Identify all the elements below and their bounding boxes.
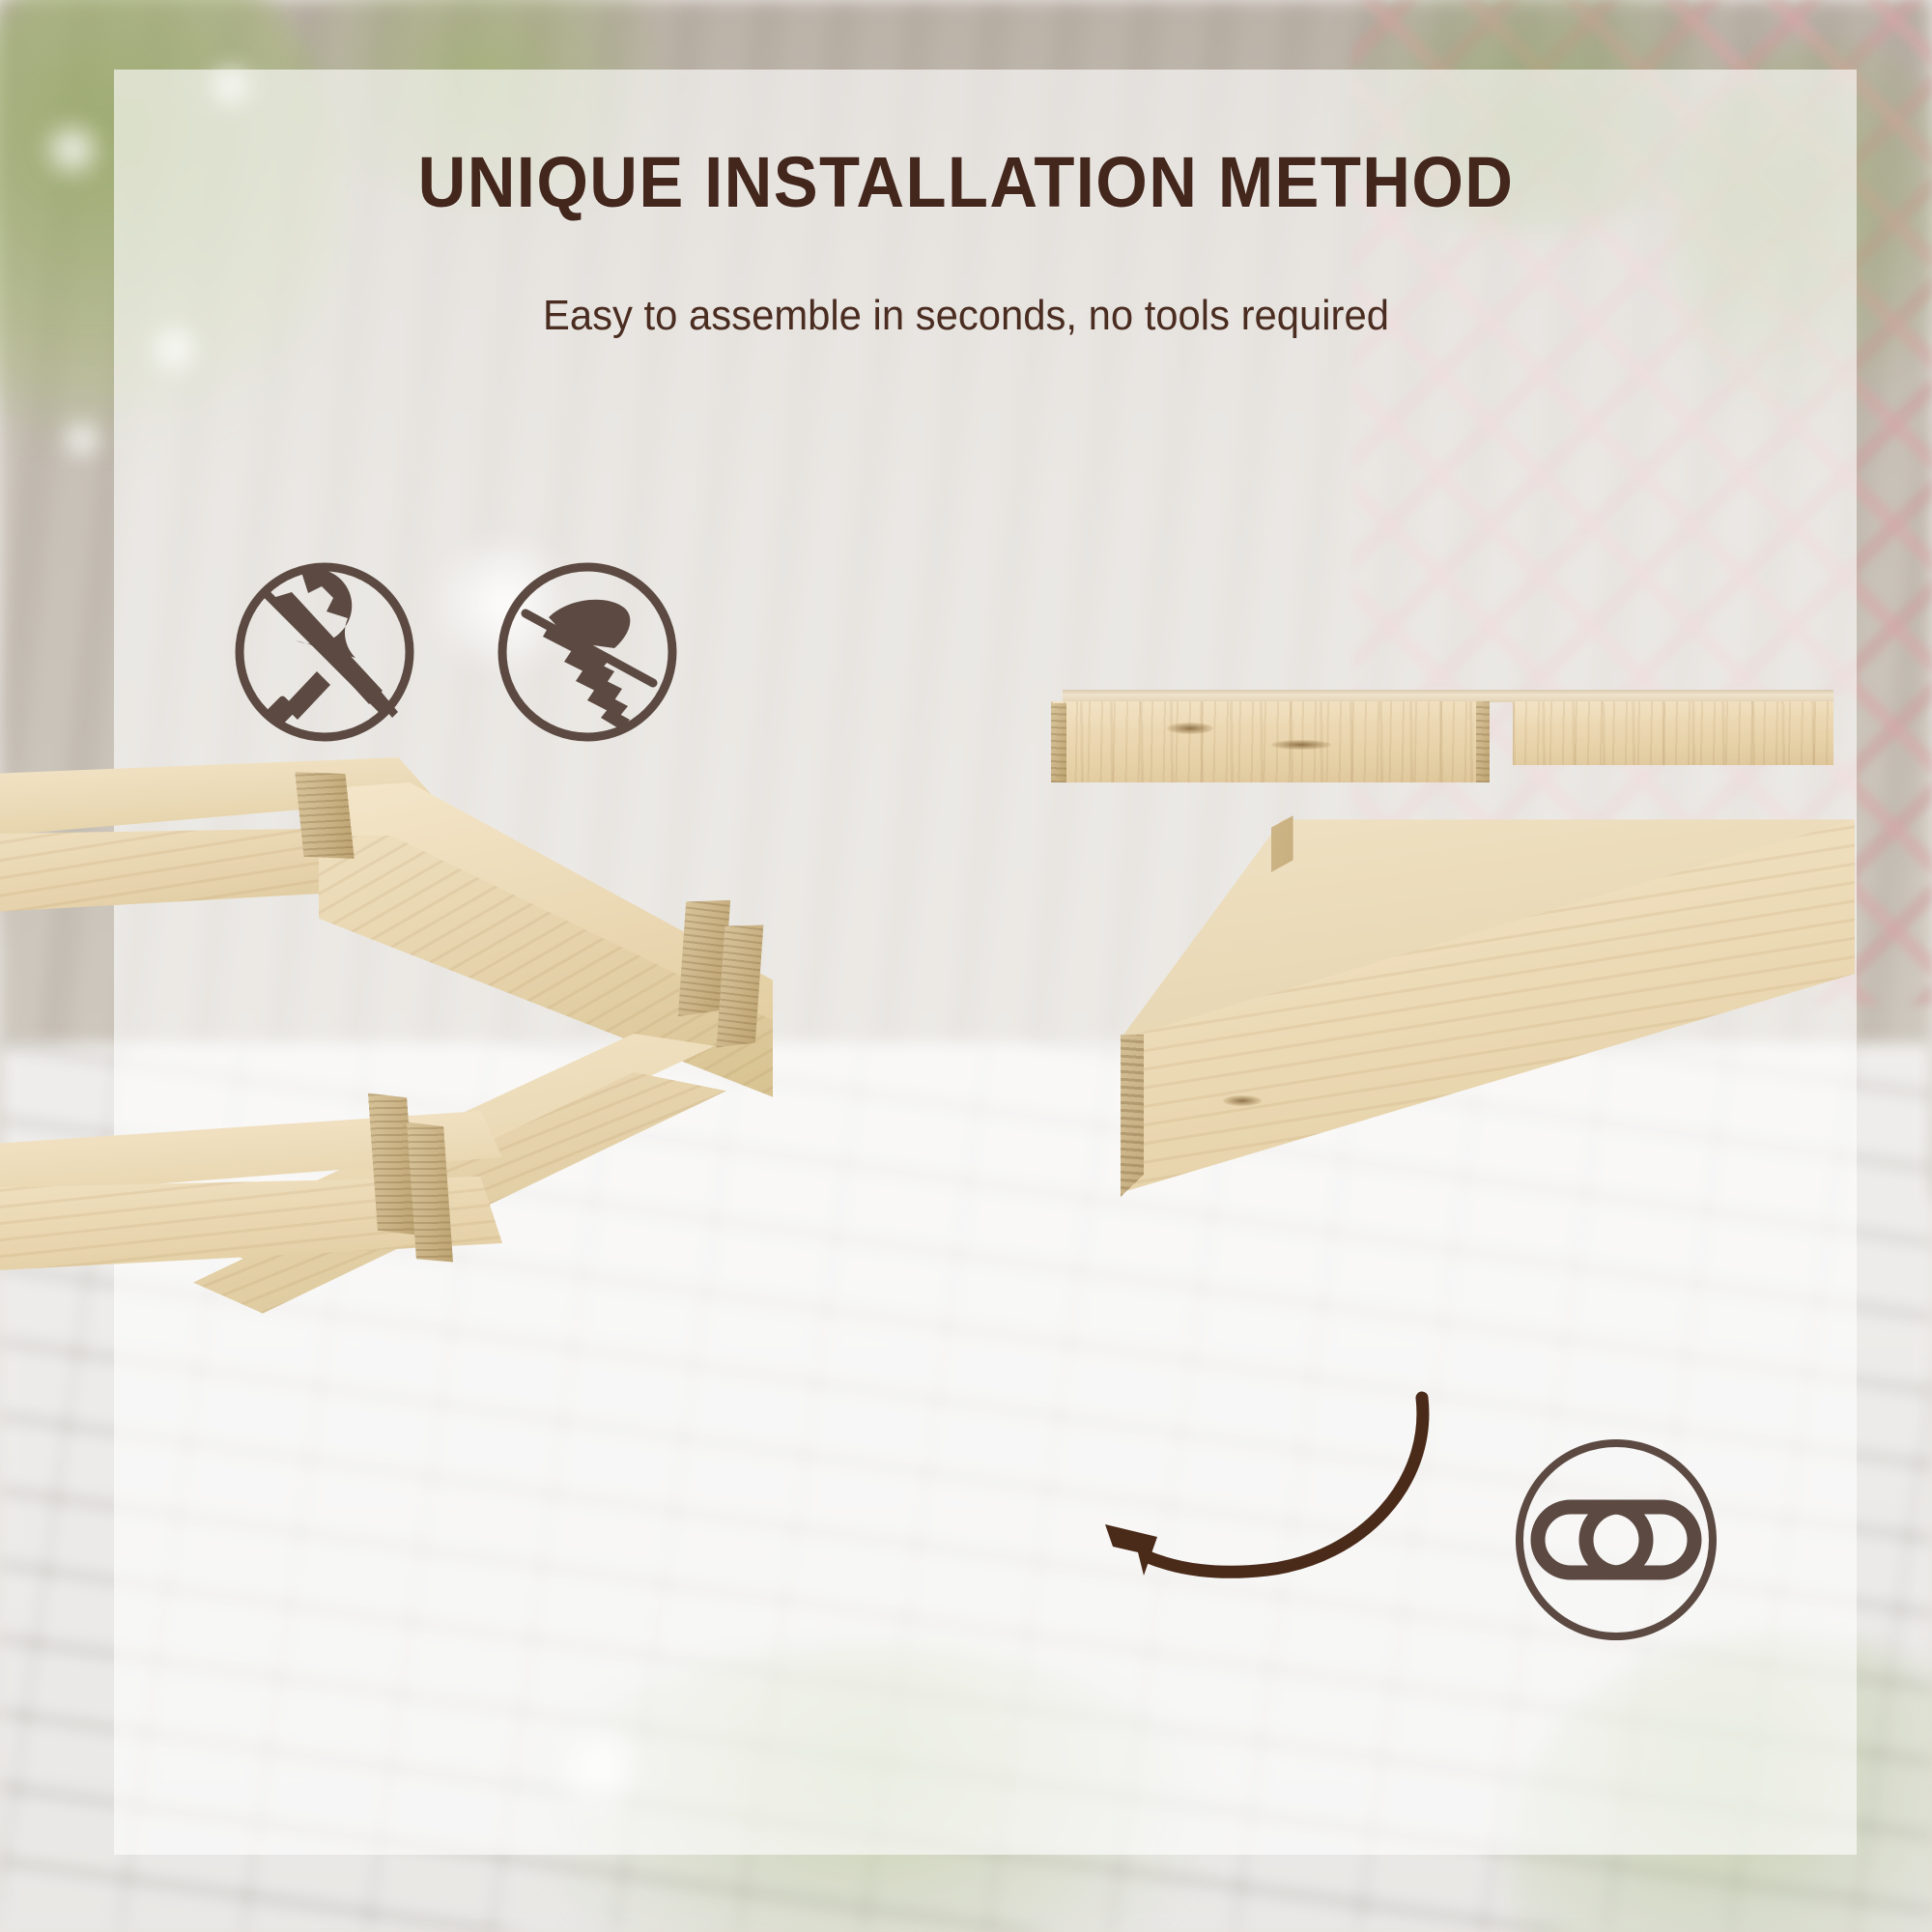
notched-board-angled	[1121, 811, 1855, 1217]
assembled-bed	[0, 744, 831, 1362]
no-screws-icon	[491, 555, 684, 749]
wood-knot	[1271, 740, 1331, 750]
interlocking-joint	[295, 767, 355, 865]
page-subtitle: Easy to assemble in seconds, no tools re…	[48, 292, 1884, 340]
board-end-grain	[1121, 1035, 1144, 1197]
white-blossom	[58, 415, 106, 464]
board-face	[1513, 701, 1833, 765]
interlocking-link-icon	[1495, 1434, 1737, 1646]
board-face	[1051, 701, 1486, 782]
board-end-grain	[1051, 703, 1066, 782]
board-notch-wall	[1476, 701, 1490, 782]
wood-knot	[1167, 723, 1213, 734]
no-tools-icon	[228, 555, 421, 749]
page-title: UNIQUE INSTALLATION METHOD	[68, 141, 1864, 223]
assembly-direction-arrow	[1043, 1348, 1449, 1613]
notched-board-top	[1051, 690, 1833, 794]
